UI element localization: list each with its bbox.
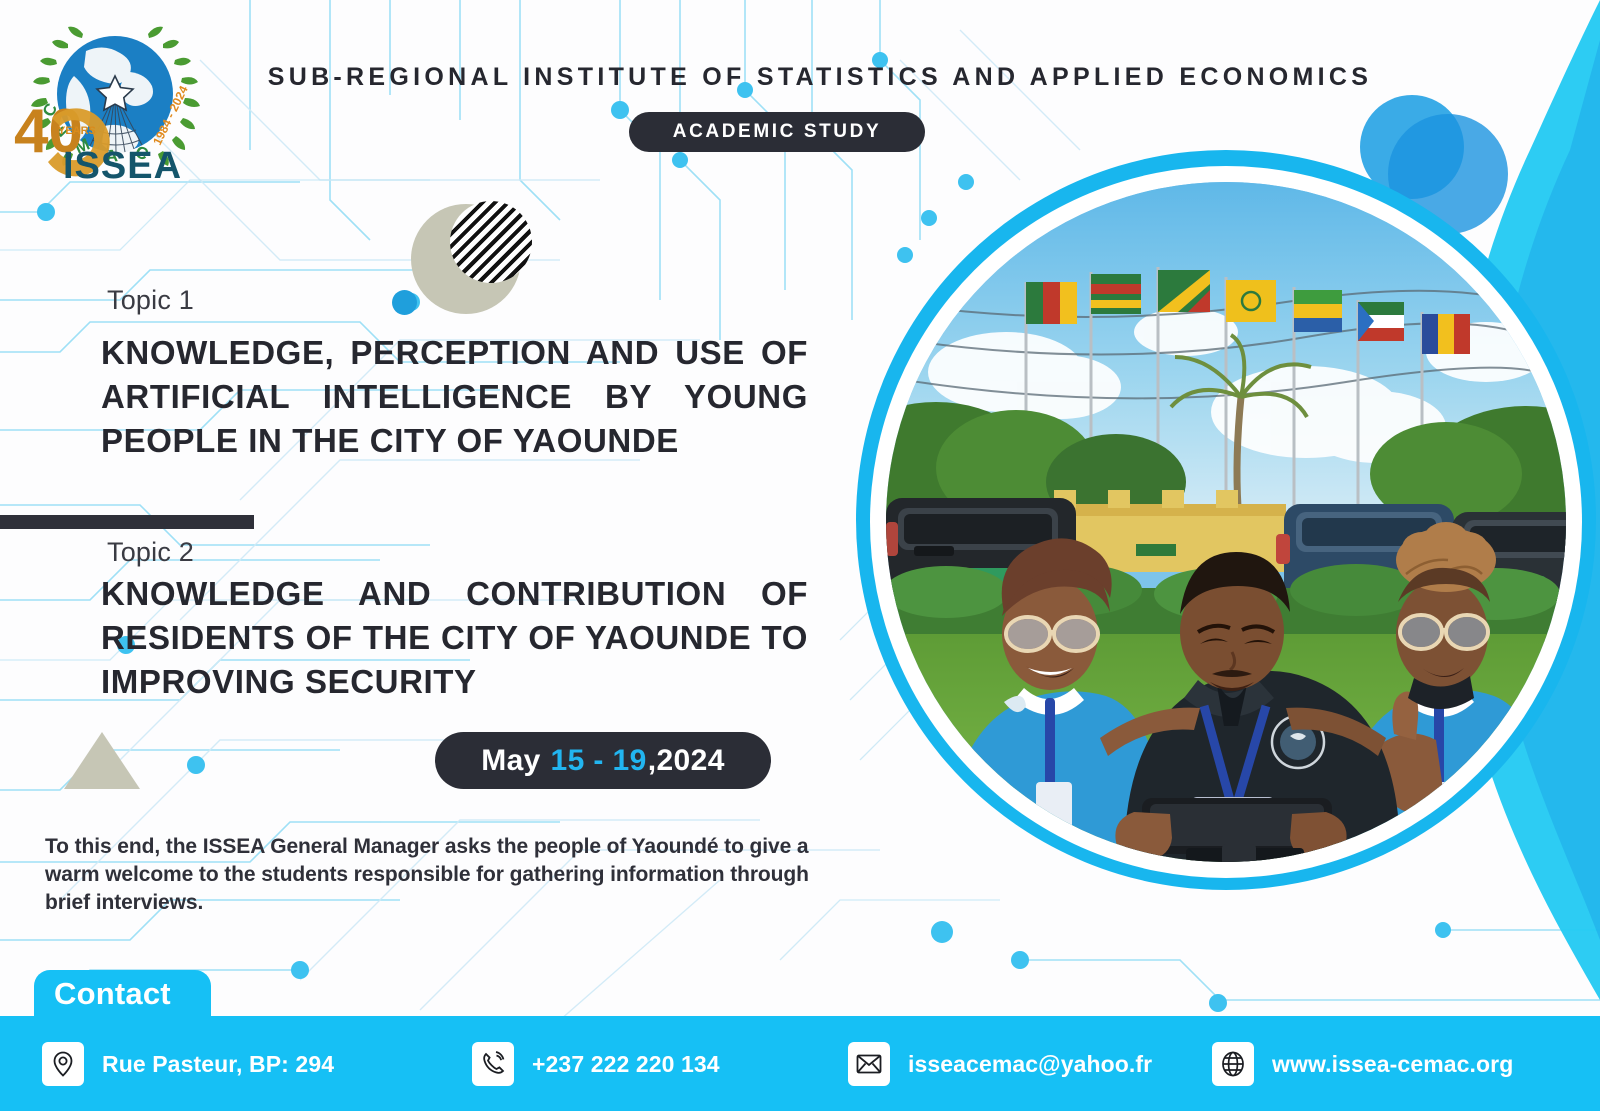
topic-2-label: Topic 2 — [107, 537, 194, 568]
globe-icon — [1212, 1042, 1254, 1086]
phone-icon — [472, 1042, 514, 1086]
poster-root: C E M A C 1984 - 2024 40 YEARS ISSEA SUB… — [0, 0, 1600, 1111]
section-divider — [0, 515, 254, 529]
location-pin-icon — [42, 1042, 84, 1086]
academic-study-badge: ACADEMIC STUDY — [629, 112, 925, 152]
beige-circle-decoration — [411, 204, 521, 314]
contact-address: Rue Pasteur, BP: 294 — [42, 1042, 334, 1086]
contact-website: www.issea-cemac.org — [1212, 1042, 1513, 1086]
blue-dot-decoration — [392, 290, 417, 315]
date-year: 2024 — [656, 744, 724, 778]
photo-medallion — [856, 150, 1596, 890]
issea-cemac-logo: C E M A C 1984 - 2024 40 YEARS ISSEA — [8, 6, 223, 186]
beige-triangle-decoration — [64, 732, 140, 789]
contact-tab-label: Contact — [54, 976, 171, 1012]
logo-graphic: C E M A C 1984 - 2024 40 YEARS ISSEA — [8, 6, 223, 186]
envelope-icon — [848, 1042, 890, 1086]
contact-tab: Contact — [34, 970, 211, 1018]
topic-1-label: Topic 1 — [107, 285, 194, 316]
contact-email-label: isseacemac@yahoo.fr — [908, 1051, 1152, 1078]
contact-address-label: Rue Pasteur, BP: 294 — [102, 1051, 334, 1078]
striped-circle-decoration — [450, 201, 532, 283]
event-date-badge: May 15 - 19, 2024 — [435, 732, 771, 789]
academic-study-label: ACADEMIC STUDY — [673, 121, 881, 143]
date-month: May — [481, 744, 541, 778]
svg-text:YEARS: YEARS — [58, 125, 96, 137]
page-title: SUB-REGIONAL INSTITUTE OF STATISTICS AND… — [240, 63, 1400, 92]
contact-phone: +237 222 220 134 — [472, 1042, 720, 1086]
contact-website-label: www.issea-cemac.org — [1272, 1051, 1513, 1078]
announcement-text: To this end, the ISSEA General Manager a… — [45, 833, 815, 917]
date-separator: , — [648, 744, 657, 778]
topic-1-title: KNOWLEDGE, PERCEPTION AND USE OF ARTIFIC… — [101, 331, 808, 463]
contact-footer: Rue Pasteur, BP: 294 +237 222 220 134 — [0, 1016, 1600, 1111]
topic-2-title: KNOWLEDGE AND CONTRIBUTION OF RESIDENTS … — [101, 572, 808, 704]
students-photo — [886, 182, 1566, 862]
contact-email: isseacemac@yahoo.fr — [848, 1042, 1152, 1086]
contact-phone-label: +237 222 220 134 — [532, 1051, 720, 1078]
date-day-range: 15 - 19 — [550, 744, 648, 778]
students-photo-illustration — [886, 182, 1566, 862]
svg-text:ISSEA: ISSEA — [63, 145, 182, 186]
